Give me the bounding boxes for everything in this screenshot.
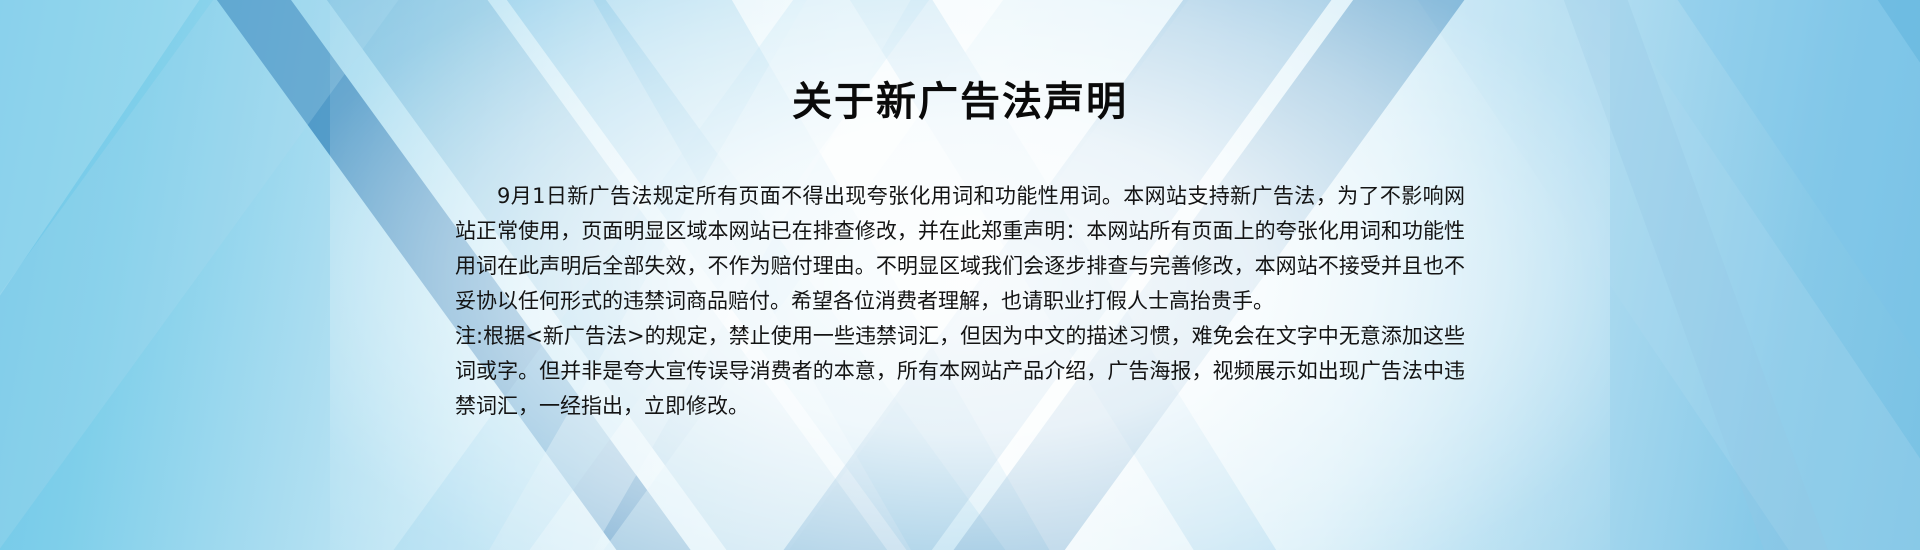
statement-paragraph-main: 9月1日新广告法规定所有页面不得出现夸张化用词和功能性用词。本网站支持新广告法，… [455,179,1465,319]
page-title: 关于新广告法声明 [792,78,1128,126]
statement-paragraph-note: 注:根据<新广告法>的规定，禁止使用一些违禁词汇，但因为中文的描述习惯，难免会在… [455,319,1465,424]
statement-text-block: 9月1日新广告法规定所有页面不得出现夸张化用词和功能性用词。本网站支持新广告法，… [455,179,1465,424]
statement-content: 关于新广告法声明 9月1日新广告法规定所有页面不得出现夸张化用词和功能性用词。本… [0,0,1920,550]
advertising-law-statement-banner: 关于新广告法声明 9月1日新广告法规定所有页面不得出现夸张化用词和功能性用词。本… [0,0,1920,550]
